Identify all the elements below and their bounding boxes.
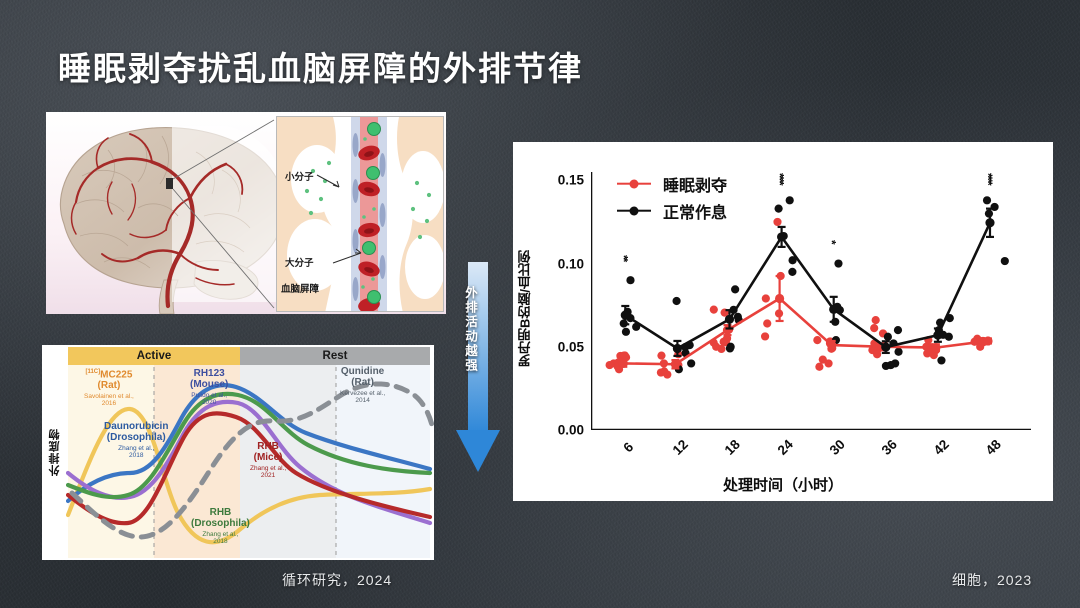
rhodamine-b-brain-blood-chart: 罗丹明B的脑/血比例 0.000.050.100.156121824303642… xyxy=(513,142,1053,501)
series-mean-marker xyxy=(983,336,992,345)
data-point xyxy=(606,361,614,369)
data-point xyxy=(761,332,769,340)
curve-label-rhb-mice: RHB (Mice) Zhang et al., 2021 xyxy=(250,442,286,479)
phase-band-active: Active xyxy=(68,347,240,365)
daunorubicin-citation: Zhang et al., xyxy=(104,445,168,452)
series-mean-marker xyxy=(829,305,838,314)
data-point xyxy=(815,363,823,371)
mc225-species: (Rat) xyxy=(84,381,134,392)
series-mean-marker xyxy=(777,232,786,241)
series-mean-marker xyxy=(619,359,628,368)
data-point xyxy=(813,336,821,344)
quinidine-year: 2014 xyxy=(340,397,385,404)
label-large-molecule: 大分子 xyxy=(285,255,314,269)
chart-y-axis-label: 罗丹明B的脑/血比例 xyxy=(516,184,534,434)
curve-label-rhb-drosophila: RHB (Drosophila) Zhang et al., 2018 xyxy=(191,508,250,545)
mc225-isotope-prefix: [11C] xyxy=(85,369,100,375)
series-mean-marker xyxy=(985,218,994,227)
quinidine-species: (Rat) xyxy=(340,378,385,389)
rhb-mice-species: (Mice) xyxy=(250,453,286,464)
caption-left: 循环研究，2024 xyxy=(282,570,392,590)
rhb-drosophila-species: (Drosophila) xyxy=(191,519,250,530)
data-point xyxy=(657,351,665,359)
data-point xyxy=(622,328,630,336)
series-mean-marker xyxy=(673,344,682,353)
rh123-species: (Mouse) xyxy=(190,380,228,391)
data-point xyxy=(672,297,680,305)
rhythm-plot-area: Active Rest [11C]MC225 (Rat) Savolainen … xyxy=(66,345,434,560)
significance-marker: ** xyxy=(616,255,630,260)
efflux-rhythm-figure: 外排底物 Active Rest xyxy=(42,345,434,560)
data-point xyxy=(731,285,739,293)
data-point xyxy=(873,350,881,358)
data-point xyxy=(710,306,718,314)
data-point xyxy=(726,344,734,352)
y-tick-label: 0.05 xyxy=(558,339,584,354)
series-mean-marker xyxy=(723,326,732,335)
mc225-year: 2016 xyxy=(84,400,134,407)
x-tick-label: 30 xyxy=(826,437,847,458)
x-tick-label: 12 xyxy=(670,437,691,458)
rhb-drosophila-citation: Zhang et al., xyxy=(191,531,250,538)
legend-label-normal-sleep: 正常作息 xyxy=(663,199,727,223)
brain-bbb-figure: 小分子 大分子 血脑屏障 xyxy=(46,112,446,314)
legend-marker-black xyxy=(617,205,651,217)
data-point xyxy=(775,205,783,213)
significance-marker: **** xyxy=(773,173,787,184)
data-point xyxy=(945,333,953,341)
x-tick-label: 6 xyxy=(621,439,637,455)
rh123-citation: Pulido et al., xyxy=(190,392,228,399)
data-point xyxy=(788,268,796,276)
data-point xyxy=(872,316,880,324)
data-point xyxy=(884,333,892,341)
data-point xyxy=(990,203,998,211)
rhythm-y-axis-label: 外排底物 xyxy=(44,345,66,560)
x-tick-label: 48 xyxy=(983,437,1004,458)
y-tick-label: 0.00 xyxy=(558,423,584,438)
series-mean-marker xyxy=(621,311,630,320)
curve-label-quinidine: Qunidine (Rat) Kervezee et al., 2014 xyxy=(340,367,385,404)
curve-label-rh123: RH123 (Mouse) Pulido et al., 2020 xyxy=(190,369,228,406)
series-mean-marker xyxy=(725,315,734,324)
data-point xyxy=(870,324,878,332)
data-point xyxy=(773,218,781,226)
data-point xyxy=(626,276,634,284)
legend-item-sleep-deprived: 睡眠剥夺 xyxy=(617,170,727,197)
data-point xyxy=(786,196,794,204)
daunorubicin-year: 2018 xyxy=(104,452,168,459)
x-tick-label: 24 xyxy=(774,437,795,458)
bbb-zoom-panel: 小分子 大分子 血脑屏障 xyxy=(276,116,444,312)
label-blood-brain-barrier: 血脑屏障 xyxy=(281,281,319,295)
data-point xyxy=(762,294,770,302)
series-mean-marker xyxy=(933,331,942,340)
data-point xyxy=(621,351,629,359)
data-point xyxy=(763,319,771,327)
rhb-mice-year: 2021 xyxy=(250,472,286,479)
legend-item-normal-sleep: 正常作息 xyxy=(617,197,727,224)
caption-right: 细胞，2023 xyxy=(952,570,1032,590)
data-point xyxy=(720,338,728,346)
data-point xyxy=(712,343,720,351)
label-small-molecule: 小分子 xyxy=(285,169,314,183)
phase-band-rest: Rest xyxy=(240,347,430,365)
data-point xyxy=(894,348,902,356)
y-tick-label: 0.15 xyxy=(558,173,584,188)
mc225-name: MC225 xyxy=(100,369,132,380)
data-point xyxy=(834,259,842,267)
series-mean-marker xyxy=(881,343,890,352)
significance-marker: **** xyxy=(981,173,995,184)
series-mean-marker xyxy=(931,343,940,352)
data-point xyxy=(983,196,991,204)
series-mean-marker xyxy=(827,341,836,350)
legend-marker-red xyxy=(617,178,651,190)
mc225-citation: Savolainen et al., xyxy=(84,393,134,400)
data-point xyxy=(894,326,902,334)
chart-legend: 睡眠剥夺 正常作息 xyxy=(617,170,727,224)
rh123-year: 2020 xyxy=(190,399,228,406)
data-point xyxy=(687,359,695,367)
series-mean-marker xyxy=(671,360,680,369)
zoom-source-box xyxy=(166,178,173,189)
curve-label-daunorubicin: Daunorubicin (Drosophila) Zhang et al., … xyxy=(104,422,168,459)
significance-marker: * xyxy=(825,240,839,243)
rhb-mice-citation: Zhang et al., xyxy=(250,465,286,472)
data-point xyxy=(1001,257,1009,265)
rhb-drosophila-year: 2018 xyxy=(191,538,250,545)
x-tick-label: 36 xyxy=(878,437,899,458)
chart-x-axis-label: 处理时间（小时） xyxy=(513,474,1053,495)
y-tick-label: 0.10 xyxy=(558,256,584,271)
x-tick-label: 18 xyxy=(722,437,743,458)
data-point xyxy=(657,368,665,376)
data-point xyxy=(930,351,938,359)
daunorubicin-species: (Drosophila) xyxy=(104,433,168,444)
quinidine-citation: Kervezee et al., xyxy=(340,390,385,397)
page-title: 睡眠剥夺扰乱血脑屏障的外排节律 xyxy=(58,42,583,90)
x-tick-label: 42 xyxy=(931,437,952,458)
efflux-arrow-label: 外排活动越强 xyxy=(461,286,480,373)
data-point xyxy=(882,362,890,370)
data-point xyxy=(824,359,832,367)
curve-label-mc225: [11C]MC225 (Rat) Savolainen et al., 2016 xyxy=(84,369,134,407)
legend-label-sleep-deprived: 睡眠剥夺 xyxy=(663,172,727,196)
data-point xyxy=(937,356,945,364)
series-mean-marker xyxy=(775,294,784,303)
